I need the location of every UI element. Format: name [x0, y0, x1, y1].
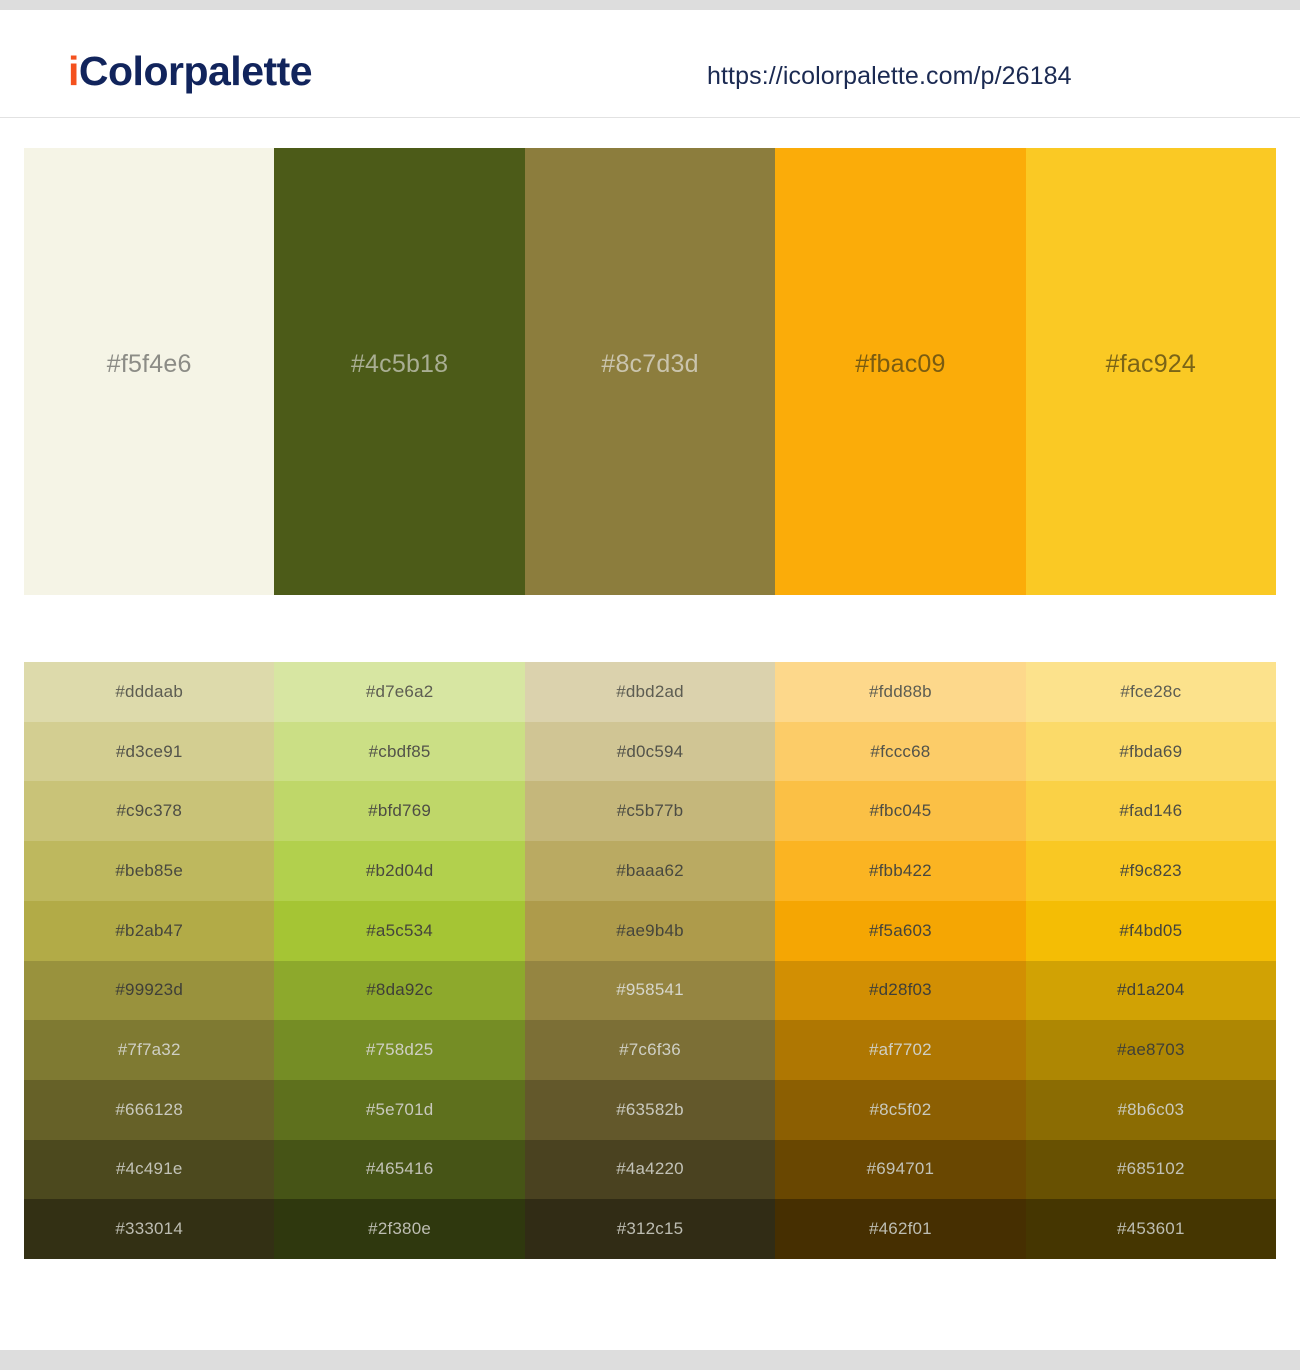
shade-cell-r2-c3[interactable]: #d0c594: [525, 722, 775, 782]
main-swatch-5[interactable]: #fac924: [1026, 148, 1276, 595]
main-swatch-hex-label: #4c5b18: [351, 350, 448, 379]
shade-cell-r4-c2[interactable]: #b2d04d: [274, 841, 524, 901]
shades-grid: #dddaab#d7e6a2#dbd2ad#fdd88b#fce28c#d3ce…: [24, 662, 1276, 1259]
logo-wordmark: Colorpalette: [79, 48, 312, 94]
main-swatch-2[interactable]: #4c5b18: [274, 148, 524, 595]
shade-cell-r10-c1[interactable]: #333014: [24, 1199, 274, 1259]
shade-cell-r10-c3[interactable]: #312c15: [525, 1199, 775, 1259]
shade-cell-r9-c5[interactable]: #685102: [1026, 1140, 1276, 1200]
shade-cell-r2-c5[interactable]: #fbda69: [1026, 722, 1276, 782]
shade-cell-r5-c5[interactable]: #f4bd05: [1026, 901, 1276, 961]
shade-cell-r7-c5[interactable]: #ae8703: [1026, 1020, 1276, 1080]
shade-cell-r3-c2[interactable]: #bfd769: [274, 781, 524, 841]
main-swatch-hex-label: #fbac09: [855, 350, 945, 379]
logo-letter-i: i: [68, 48, 79, 94]
shade-row: #dddaab#d7e6a2#dbd2ad#fdd88b#fce28c: [24, 662, 1276, 722]
main-swatch-hex-label: #f5f4e6: [107, 350, 192, 379]
shade-row: #c9c378#bfd769#c5b77b#fbc045#fad146: [24, 781, 1276, 841]
shade-cell-r4-c5[interactable]: #f9c823: [1026, 841, 1276, 901]
shade-cell-r5-c4[interactable]: #f5a603: [775, 901, 1025, 961]
shade-cell-r8-c1[interactable]: #666128: [24, 1080, 274, 1140]
shade-cell-r6-c5[interactable]: #d1a204: [1026, 961, 1276, 1021]
shade-row: #d3ce91#cbdf85#d0c594#fccc68#fbda69: [24, 722, 1276, 782]
shade-row: #7f7a32#758d25#7c6f36#af7702#ae8703: [24, 1020, 1276, 1080]
shade-cell-r3-c4[interactable]: #fbc045: [775, 781, 1025, 841]
shade-cell-r6-c4[interactable]: #d28f03: [775, 961, 1025, 1021]
shade-row: #beb85e#b2d04d#baaa62#fbb422#f9c823: [24, 841, 1276, 901]
shade-row: #b2ab47#a5c534#ae9b4b#f5a603#f4bd05: [24, 901, 1276, 961]
shade-row: #4c491e#465416#4a4220#694701#685102: [24, 1140, 1276, 1200]
shade-cell-r10-c5[interactable]: #453601: [1026, 1199, 1276, 1259]
shade-cell-r4-c4[interactable]: #fbb422: [775, 841, 1025, 901]
shade-cell-r9-c3[interactable]: #4a4220: [525, 1140, 775, 1200]
main-swatch-4[interactable]: #fbac09: [775, 148, 1025, 595]
shade-cell-r6-c3[interactable]: #958541: [525, 961, 775, 1021]
shade-cell-r10-c4[interactable]: #462f01: [775, 1199, 1025, 1259]
shade-cell-r7-c4[interactable]: #af7702: [775, 1020, 1025, 1080]
top-gray-strip: [0, 0, 1300, 10]
shade-cell-r9-c2[interactable]: #465416: [274, 1140, 524, 1200]
bottom-gray-strip: [0, 1350, 1300, 1370]
shade-cell-r1-c2[interactable]: #d7e6a2: [274, 662, 524, 722]
main-swatch-hex-label: #8c7d3d: [601, 350, 698, 379]
main-swatch-hex-label: #fac924: [1106, 350, 1196, 379]
shade-cell-r3-c3[interactable]: #c5b77b: [525, 781, 775, 841]
shade-cell-r10-c2[interactable]: #2f380e: [274, 1199, 524, 1259]
site-logo[interactable]: iColorpalette: [68, 48, 312, 95]
site-header: iColorpalette https://icolorpalette.com/…: [0, 10, 1300, 118]
shade-cell-r7-c1[interactable]: #7f7a32: [24, 1020, 274, 1080]
shade-cell-r5-c1[interactable]: #b2ab47: [24, 901, 274, 961]
shade-row: #666128#5e701d#63582b#8c5f02#8b6c03: [24, 1080, 1276, 1140]
shade-cell-r3-c5[interactable]: #fad146: [1026, 781, 1276, 841]
shade-cell-r8-c4[interactable]: #8c5f02: [775, 1080, 1025, 1140]
shade-cell-r6-c2[interactable]: #8da92c: [274, 961, 524, 1021]
shade-cell-r7-c2[interactable]: #758d25: [274, 1020, 524, 1080]
shade-cell-r5-c3[interactable]: #ae9b4b: [525, 901, 775, 961]
page-root: iColorpalette https://icolorpalette.com/…: [0, 0, 1300, 1370]
main-palette-band: #f5f4e6#4c5b18#8c7d3d#fbac09#fac924: [24, 148, 1276, 595]
shade-cell-r3-c1[interactable]: #c9c378: [24, 781, 274, 841]
shade-cell-r1-c5[interactable]: #fce28c: [1026, 662, 1276, 722]
shade-cell-r4-c3[interactable]: #baaa62: [525, 841, 775, 901]
palette-url[interactable]: https://icolorpalette.com/p/26184: [707, 62, 1072, 91]
shade-cell-r4-c1[interactable]: #beb85e: [24, 841, 274, 901]
shade-row: #99923d#8da92c#958541#d28f03#d1a204: [24, 961, 1276, 1021]
shade-cell-r1-c4[interactable]: #fdd88b: [775, 662, 1025, 722]
shade-cell-r9-c1[interactable]: #4c491e: [24, 1140, 274, 1200]
main-swatch-3[interactable]: #8c7d3d: [525, 148, 775, 595]
shade-cell-r9-c4[interactable]: #694701: [775, 1140, 1025, 1200]
shade-cell-r8-c2[interactable]: #5e701d: [274, 1080, 524, 1140]
shade-cell-r2-c2[interactable]: #cbdf85: [274, 722, 524, 782]
main-swatch-1[interactable]: #f5f4e6: [24, 148, 274, 595]
shade-cell-r7-c3[interactable]: #7c6f36: [525, 1020, 775, 1080]
shade-cell-r2-c4[interactable]: #fccc68: [775, 722, 1025, 782]
shade-cell-r5-c2[interactable]: #a5c534: [274, 901, 524, 961]
shade-cell-r1-c1[interactable]: #dddaab: [24, 662, 274, 722]
shade-cell-r8-c3[interactable]: #63582b: [525, 1080, 775, 1140]
shade-cell-r1-c3[interactable]: #dbd2ad: [525, 662, 775, 722]
shade-cell-r6-c1[interactable]: #99923d: [24, 961, 274, 1021]
shade-row: #333014#2f380e#312c15#462f01#453601: [24, 1199, 1276, 1259]
shade-cell-r8-c5[interactable]: #8b6c03: [1026, 1080, 1276, 1140]
shade-cell-r2-c1[interactable]: #d3ce91: [24, 722, 274, 782]
